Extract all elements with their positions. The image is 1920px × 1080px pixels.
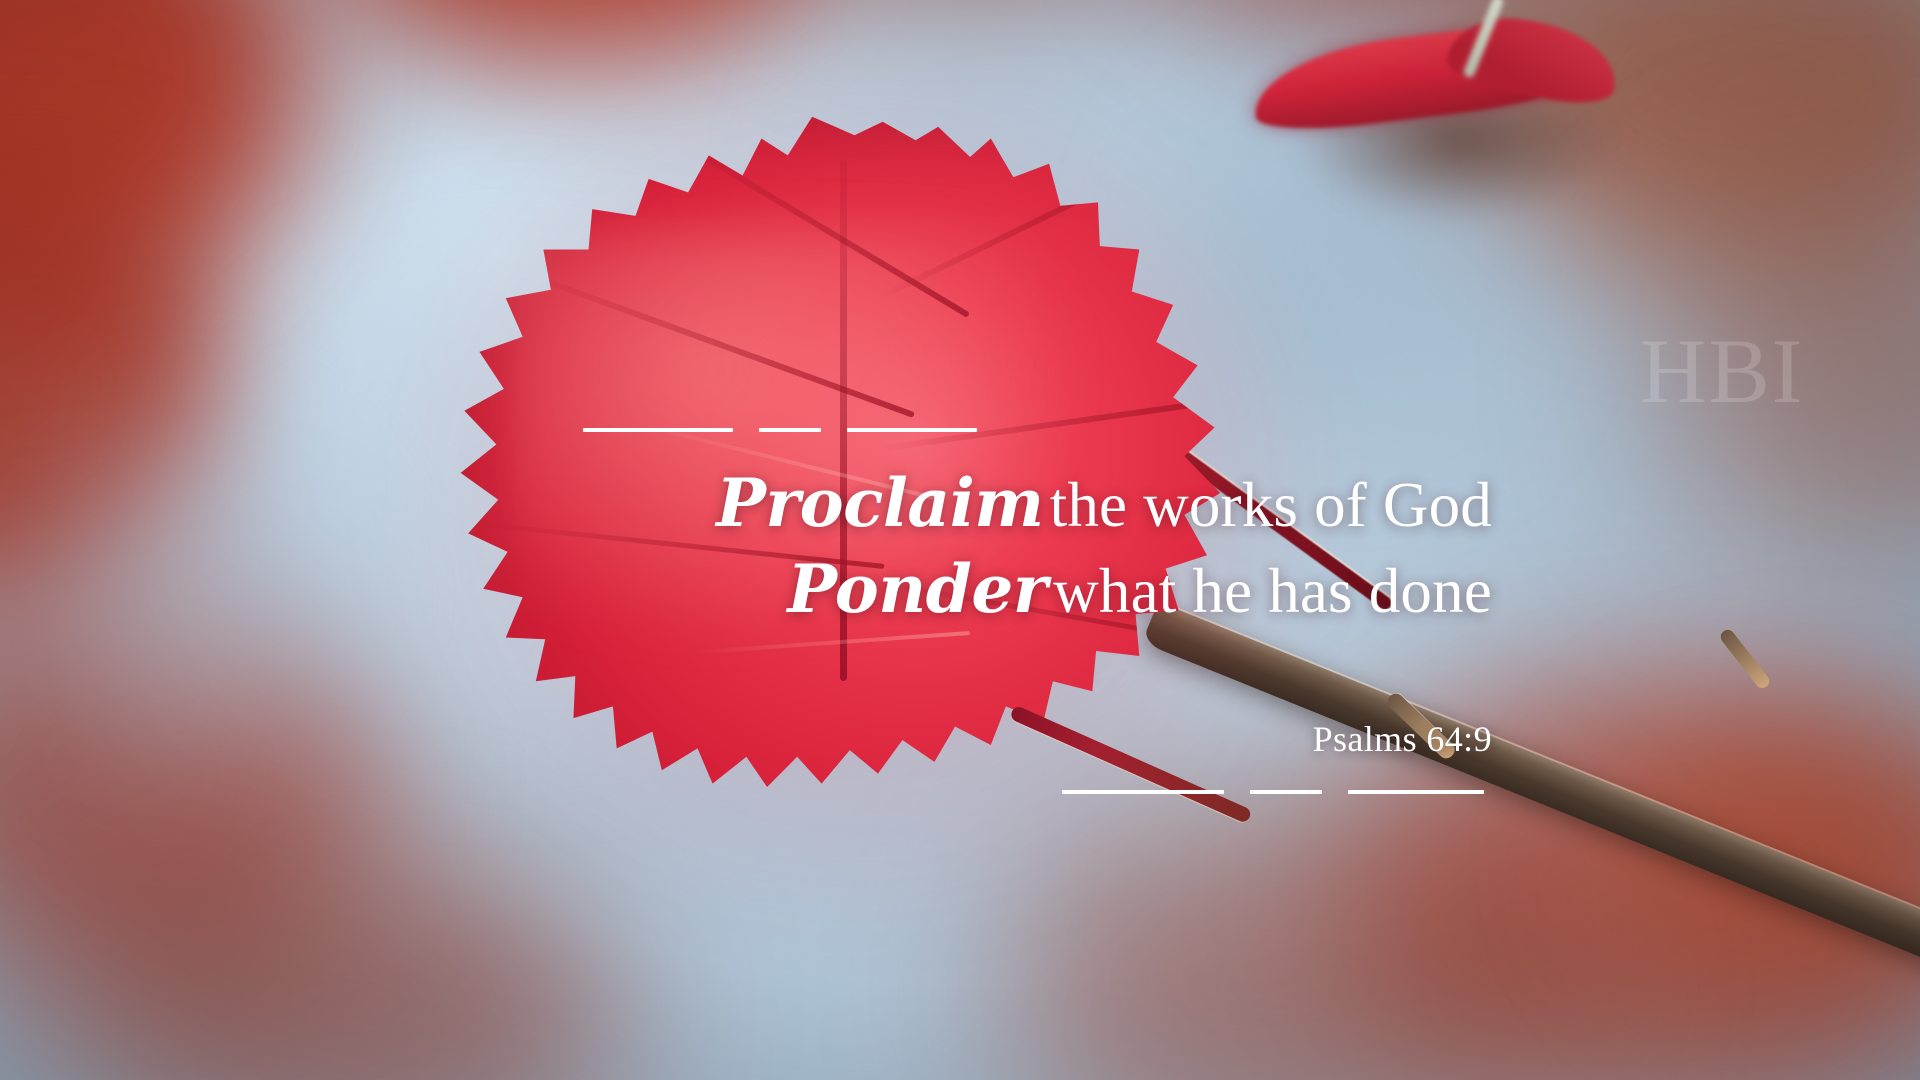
scripture-citation: Psalms 64:9: [680, 718, 1492, 760]
verse-line-2-emphasis: Ponder: [787, 550, 1053, 628]
rule-segment-long: [1062, 790, 1224, 794]
rule-segment-medium: [1348, 790, 1484, 794]
bottom-decorative-rule: [1062, 790, 1484, 794]
verse-line-2-rest: what he has done: [1053, 556, 1492, 626]
verse-text: Proclaimthe works of God Ponderwhat he h…: [380, 470, 1492, 642]
scripture-image-card: Proclaimthe works of God Ponderwhat he h…: [0, 0, 1920, 1080]
verse-line-1-rest: the works of God: [1050, 470, 1492, 540]
verse-line-2: Ponderwhat he has done: [380, 556, 1492, 624]
rule-segment-long: [583, 428, 733, 432]
rule-segment-short: [759, 428, 821, 432]
rule-segment-short: [1250, 790, 1322, 794]
hbi-watermark: HBI: [1640, 318, 1804, 424]
verse-line-1-emphasis: Proclaim: [716, 464, 1049, 542]
rule-segment-medium: [847, 428, 977, 432]
top-decorative-rule: [583, 428, 977, 432]
verse-line-1: Proclaimthe works of God: [380, 470, 1492, 538]
text-overlay: Proclaimthe works of God Ponderwhat he h…: [0, 0, 1920, 1080]
